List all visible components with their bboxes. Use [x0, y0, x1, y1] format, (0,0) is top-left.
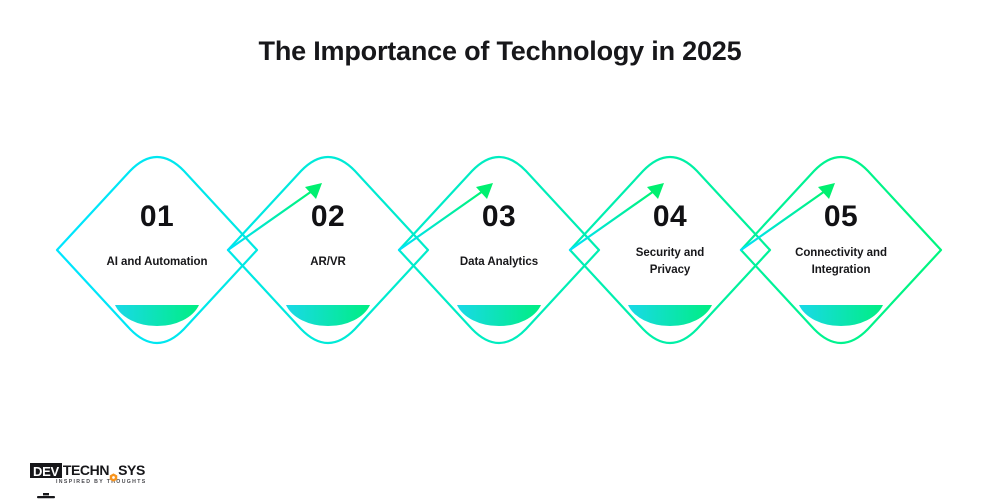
connector-arrow-02-03 [399, 183, 493, 250]
logo-wordmark: DEV TECHN SYS [30, 460, 154, 478]
infographic-canvas: The Importance of Technology in 2025 [0, 0, 1000, 500]
logo-monitor-stand-icon [34, 486, 154, 504]
logo-tagline: INSPIRED BY THOUGHTS [56, 479, 154, 485]
step-fill-bowl-04 [628, 305, 712, 326]
gear-hexagon-icon [109, 469, 118, 478]
step-fill-bowl-01 [115, 305, 199, 326]
connector-arrow-03-04 [570, 183, 664, 250]
process-diagram [0, 0, 1000, 500]
logo-sys-text: SYS [118, 463, 145, 478]
devtechnosys-logo[interactable]: DEV TECHN SYS INSPIRED BY THOUGHTS [30, 460, 154, 492]
connector-arrow-01-02 [228, 183, 322, 250]
logo-dev-badge: DEV [30, 463, 62, 478]
step-fill-bowl-05 [799, 305, 883, 326]
connector-arrow-04-05 [741, 183, 835, 250]
logo-techn-text: TECHN [63, 463, 109, 478]
step-fill-bowl-03 [457, 305, 541, 326]
step-fill-bowl-02 [286, 305, 370, 326]
